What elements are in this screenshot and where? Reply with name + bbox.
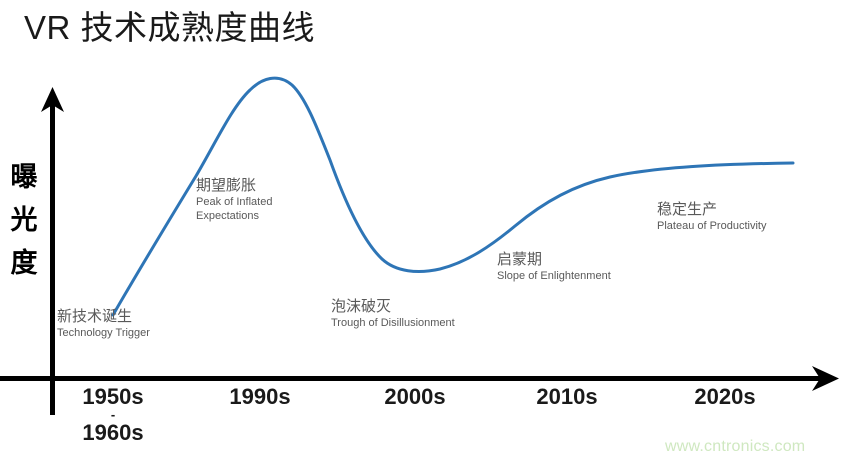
annotation-plateau-of-productivity: 稳定生产 Plateau of Productivity xyxy=(657,200,766,233)
x-tick-2000s: 2000s xyxy=(330,384,500,410)
annotation-peak-cn: 期望膨胀 xyxy=(196,176,272,195)
x-tick-2010s: 2010s xyxy=(482,384,652,410)
y-axis-label-char-3: 度 xyxy=(4,242,44,285)
x-tick-label-1950s-1960s: 1950s - 1960s xyxy=(53,384,173,446)
x-tick-2020s: 2020s xyxy=(640,384,810,410)
annotation-trough-of-disillusionment: 泡沫破灭 Trough of Disillusionment xyxy=(331,297,455,330)
annotation-trough-en: Trough of Disillusionment xyxy=(331,316,455,330)
annotation-plateau-cn: 稳定生产 xyxy=(657,200,766,219)
y-axis-label-char-1: 曝 xyxy=(4,156,44,199)
y-axis-label: 曝 光 度 xyxy=(4,156,44,285)
annotation-slope-cn: 启蒙期 xyxy=(497,250,611,269)
x-tick-label-2000s: 2000s xyxy=(330,384,500,410)
annotation-trough-cn: 泡沫破灭 xyxy=(331,297,455,316)
annotation-plateau-en: Plateau of Productivity xyxy=(657,219,766,233)
y-axis-label-char-2: 光 xyxy=(4,199,44,242)
x-tick-1990s: 1990s xyxy=(170,384,350,410)
annotation-peak-en-line2: Expectations xyxy=(196,209,272,223)
annotation-technology-trigger: 新技术诞生 Technology Trigger xyxy=(57,307,150,340)
hype-cycle-chart: VR 技术成熟度曲线 曝 光 度 新技术诞生 Technology Trigge… xyxy=(0,0,841,468)
annotation-technology-trigger-en: Technology Trigger xyxy=(57,326,150,340)
x-tick-label-2020s: 2020s xyxy=(640,384,810,410)
x-tick-label-2010s: 2010s xyxy=(482,384,652,410)
annotation-slope-en: Slope of Enlightenment xyxy=(497,269,611,283)
x-tick-1960s: 1960s xyxy=(53,420,173,446)
x-tick-label-1990s: 1990s xyxy=(170,384,350,410)
annotation-technology-trigger-cn: 新技术诞生 xyxy=(57,307,150,326)
annotation-peak-en-line1: Peak of Inflated xyxy=(196,195,272,209)
annotation-peak-of-inflated-expectations: 期望膨胀 Peak of Inflated Expectations xyxy=(196,176,272,223)
x-tick-range-dash: - xyxy=(53,410,173,420)
annotation-slope-of-enlightenment: 启蒙期 Slope of Enlightenment xyxy=(497,250,611,283)
watermark: www.cntronics.com xyxy=(665,438,805,456)
